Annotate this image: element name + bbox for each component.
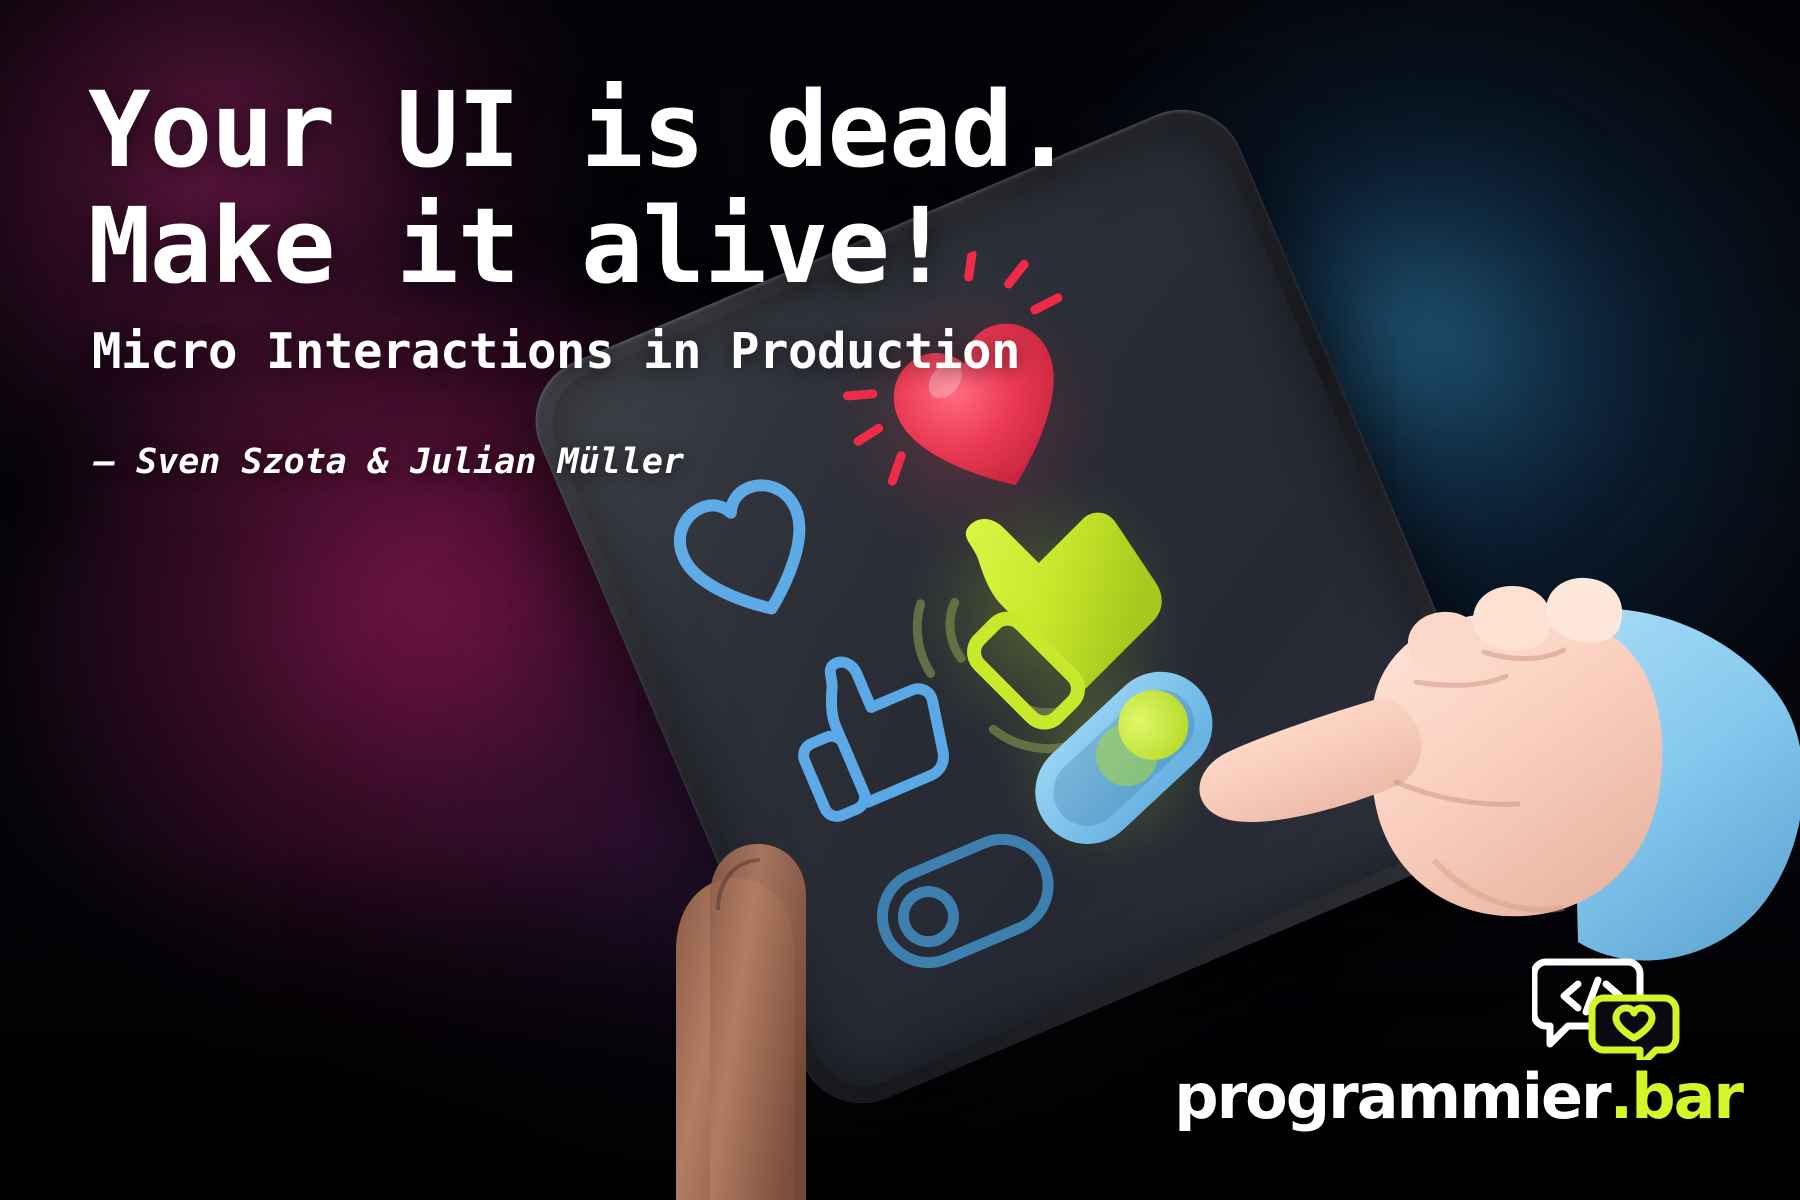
- headline-line-2: Make it alive!: [88, 188, 1074, 304]
- holding-hand: [618, 800, 878, 1200]
- logo-word-primary: programmier: [1174, 1066, 1609, 1128]
- headline-line-1: Your UI is dead.: [88, 69, 1074, 191]
- subtitle: Micro Interactions in Production: [92, 323, 1074, 380]
- logo-word-accent: .bar: [1610, 1066, 1742, 1128]
- pointing-hand: [1166, 430, 1800, 990]
- speaker-byline: – Sven Szota & Julian Müller: [94, 442, 1074, 482]
- speech-bubbles-icon: [1532, 952, 1682, 1060]
- page-title: Your UI is dead.Make it alive!: [88, 72, 1074, 305]
- slide-canvas: Your UI is dead.Make it alive! Micro Int…: [0, 0, 1800, 1200]
- title-block: Your UI is dead.Make it alive! Micro Int…: [88, 72, 1074, 482]
- logo-wordmark: programmier.bar: [1174, 1066, 1742, 1128]
- programmier-bar-logo[interactable]: programmier.bar: [1174, 952, 1742, 1128]
